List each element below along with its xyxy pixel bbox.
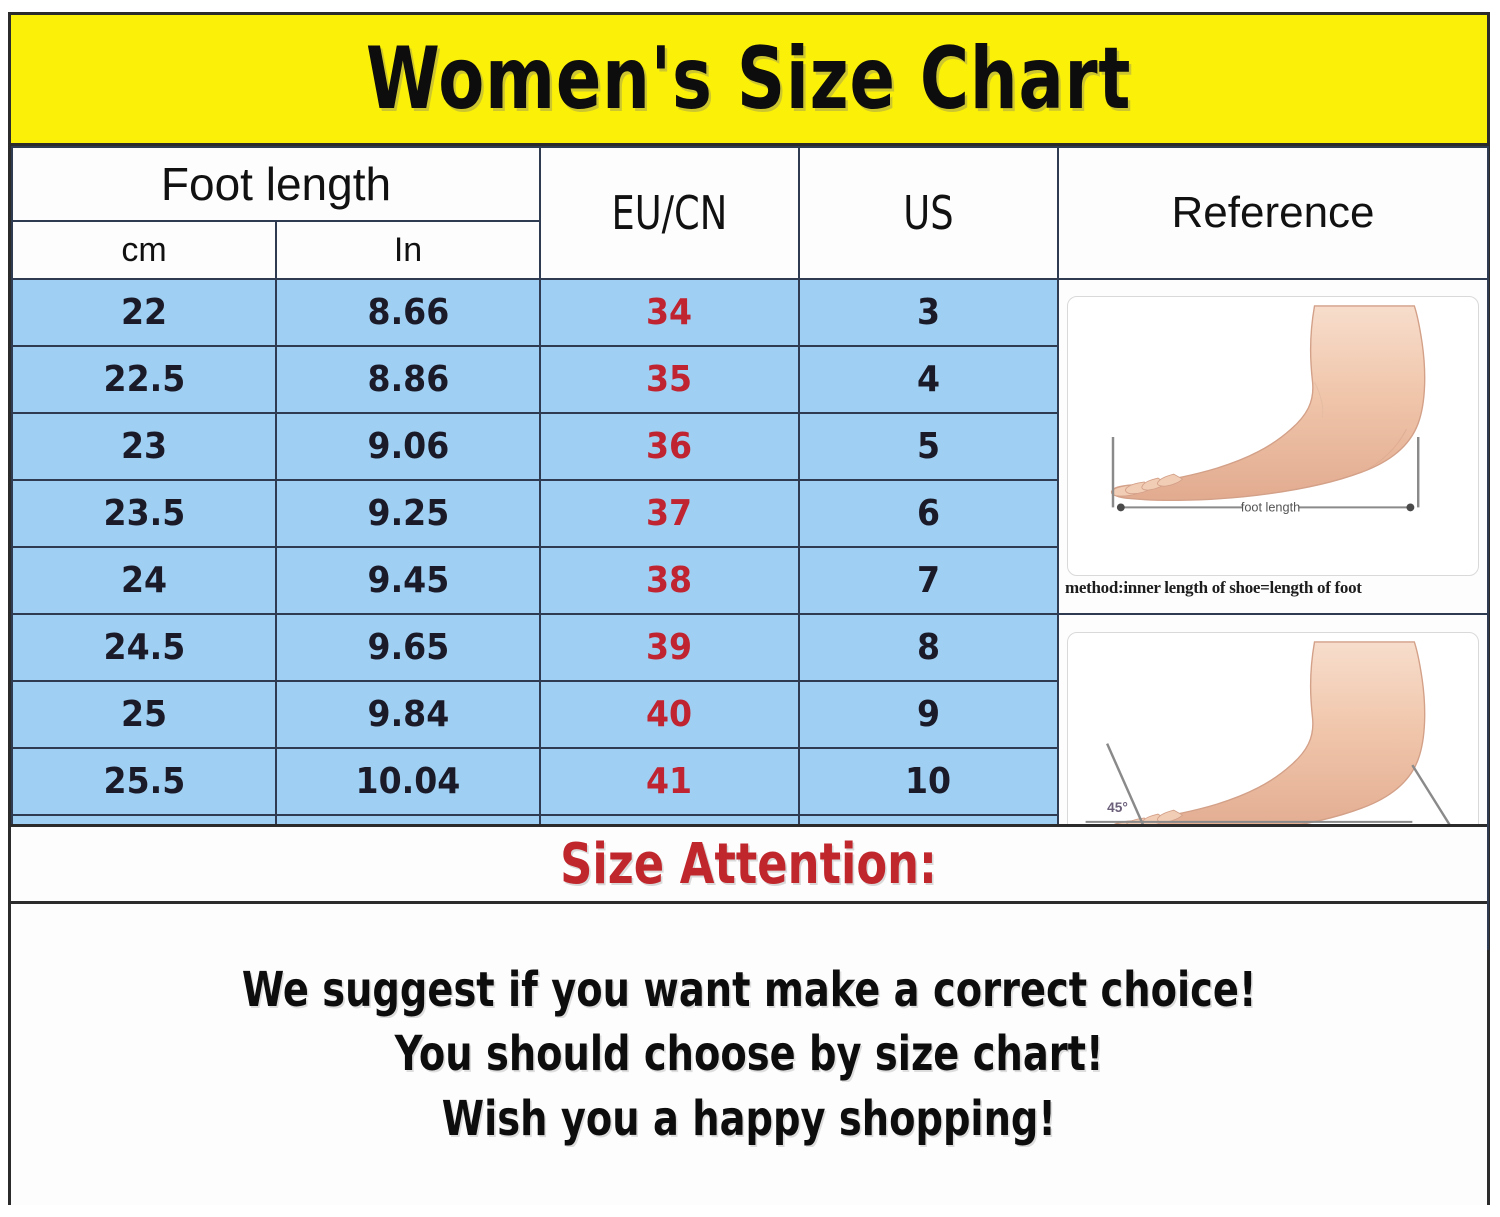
cell-cm-value: 25 <box>121 694 167 735</box>
cell-cm: 24.5 <box>12 614 276 681</box>
cell-eu-cn: 39 <box>540 614 799 681</box>
cell-in-value: 9.06 <box>367 426 449 467</box>
cell-in: 9.45 <box>276 547 540 614</box>
cell-eu-cn: 37 <box>540 480 799 547</box>
cell-in: 9.06 <box>276 413 540 480</box>
cell-in: 8.66 <box>276 279 540 346</box>
cell-eu-cn-value: 40 <box>646 694 692 735</box>
cell-eu-cn: 36 <box>540 413 799 480</box>
size-attention-notes: We suggest if you want make a correct ch… <box>11 904 1487 1205</box>
cell-cm: 23 <box>12 413 276 480</box>
cell-cm: 24 <box>12 547 276 614</box>
cell-us-value: 3 <box>917 292 940 333</box>
note-line-2: You should choose by size chart! <box>395 1029 1104 1079</box>
cell-eu-cn-value: 41 <box>646 761 692 802</box>
table-row: 22 8.66 34 3 <box>12 279 1488 346</box>
size-attention-band: Size Attention: <box>11 824 1487 904</box>
cell-eu-cn-value: 34 <box>646 292 692 333</box>
cell-cm-value: 22.5 <box>103 359 185 400</box>
reference-caption-1: method:inner length of shoe=length of fo… <box>1059 576 1487 604</box>
cell-us-value: 8 <box>917 627 940 668</box>
cell-us-value: 4 <box>917 359 940 400</box>
header-us-label: US <box>903 186 953 240</box>
cell-in: 9.84 <box>276 681 540 748</box>
cell-us-value: 10 <box>905 761 951 802</box>
cell-us-value: 9 <box>917 694 940 735</box>
cell-cm-value: 23.5 <box>103 493 185 534</box>
cell-cm: 22.5 <box>12 346 276 413</box>
cell-eu-cn: 41 <box>540 748 799 815</box>
cell-eu-cn: 35 <box>540 346 799 413</box>
header-cm: cm <box>12 221 276 279</box>
cell-us: 4 <box>799 346 1058 413</box>
header-foot-length: Foot length <box>12 147 540 221</box>
cell-us-value: 6 <box>917 493 940 534</box>
cell-in: 8.86 <box>276 346 540 413</box>
cell-in-value: 8.86 <box>367 359 449 400</box>
cell-in: 9.65 <box>276 614 540 681</box>
svg-text:foot length: foot length <box>1240 499 1299 514</box>
cell-eu-cn: 38 <box>540 547 799 614</box>
cell-in-value: 9.25 <box>367 493 449 534</box>
header-reference: Reference <box>1058 147 1488 279</box>
cell-in-value: 10.04 <box>356 761 461 802</box>
cell-cm: 25 <box>12 681 276 748</box>
cell-eu-cn-value: 37 <box>646 493 692 534</box>
cell-in-value: 8.66 <box>367 292 449 333</box>
reference-box-1: foot length method:inner length of shoe=… <box>1059 296 1487 604</box>
foot-side-view-icon: foot length <box>1068 297 1479 575</box>
cell-us: 10 <box>799 748 1058 815</box>
cell-us: 5 <box>799 413 1058 480</box>
table-row: 24.5 9.65 39 8 <box>12 614 1488 681</box>
title-banner: Women's Size Chart <box>11 15 1487 146</box>
cell-in-value: 9.65 <box>367 627 449 668</box>
foot-diagram-1: foot length <box>1067 296 1480 576</box>
cell-cm: 23.5 <box>12 480 276 547</box>
header-in: In <box>276 221 540 279</box>
cell-in-value: 9.45 <box>367 560 449 601</box>
cell-us: 9 <box>799 681 1058 748</box>
note-line-1: We suggest if you want make a correct ch… <box>242 965 1257 1015</box>
cell-us-value: 5 <box>917 426 940 467</box>
cell-cm-value: 24 <box>121 560 167 601</box>
cell-cm-value: 25.5 <box>103 761 185 802</box>
cell-cm-value: 22 <box>121 292 167 333</box>
header-eu-cn: EU/CN <box>540 147 799 279</box>
cell-eu-cn-value: 35 <box>646 359 692 400</box>
cell-eu-cn-value: 38 <box>646 560 692 601</box>
cell-eu-cn: 34 <box>540 279 799 346</box>
cell-us: 7 <box>799 547 1058 614</box>
cell-in-value: 9.84 <box>367 694 449 735</box>
note-line-3: Wish you a happy shopping! <box>442 1094 1056 1144</box>
header-eu-cn-label: EU/CN <box>612 186 728 240</box>
cell-in: 9.25 <box>276 480 540 547</box>
cell-us: 6 <box>799 480 1058 547</box>
cell-cm: 22 <box>12 279 276 346</box>
reference-cell-1: foot length method:inner length of shoe=… <box>1058 279 1488 614</box>
cell-eu-cn-value: 39 <box>646 627 692 668</box>
page-title: Women's Size Chart <box>366 36 1131 122</box>
cell-us: 8 <box>799 614 1058 681</box>
size-chart-container: Women's Size Chart Foot length EU/CN US … <box>8 12 1490 1205</box>
header-us: US <box>799 147 1058 279</box>
cell-eu-cn: 40 <box>540 681 799 748</box>
svg-text:45°: 45° <box>1107 800 1128 815</box>
cell-cm-value: 24.5 <box>103 627 185 668</box>
table-header: Foot length EU/CN US Reference cm In <box>12 147 1488 279</box>
cell-cm: 25.5 <box>12 748 276 815</box>
cell-in: 10.04 <box>276 748 540 815</box>
cell-cm-value: 23 <box>121 426 167 467</box>
size-attention-heading: Size Attention: <box>561 832 938 897</box>
cell-eu-cn-value: 36 <box>646 426 692 467</box>
cell-us: 3 <box>799 279 1058 346</box>
cell-us-value: 7 <box>917 560 940 601</box>
